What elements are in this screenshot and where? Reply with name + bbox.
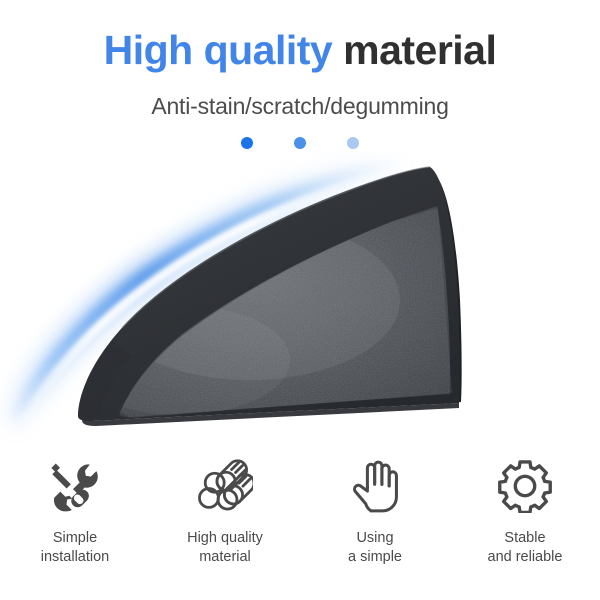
wrench-screwdriver-icon — [48, 455, 102, 517]
product-image-stage — [0, 150, 600, 450]
feature-item-using-a-simple: Using a simple — [306, 455, 444, 566]
feature-label-using-a-simple: Using a simple — [348, 529, 402, 566]
page-subtitle: Anti-stain/scratch/degumming — [0, 93, 600, 120]
headline-secondary: material — [343, 27, 496, 73]
dot-indicator-3 — [347, 137, 359, 149]
product-feature-banner: High quality material Anti-stain/scratch… — [0, 0, 600, 600]
gear-icon — [498, 455, 552, 517]
car-window-trim-wedge-illustration — [0, 150, 600, 450]
feature-item-simple-installation: Simple installation — [6, 455, 144, 566]
dot-indicator-1 — [241, 137, 253, 149]
stacked-logs-icon — [197, 455, 253, 517]
dot-indicator-2 — [294, 137, 306, 149]
feature-label-high-quality-material: High quality material — [187, 529, 263, 566]
feature-label-stable-and-reliable: Stable and reliable — [488, 529, 563, 566]
headline-primary: High quality — [104, 27, 333, 73]
feature-item-stable-and-reliable: Stable and reliable — [456, 455, 594, 566]
page-title: High quality material — [0, 30, 600, 71]
feature-label-simple-installation: Simple installation — [41, 529, 110, 566]
open-hand-icon — [350, 455, 400, 517]
feature-list: Simple installation — [0, 455, 600, 595]
dot-indicators — [0, 137, 600, 149]
feature-item-high-quality-material: High quality material — [156, 455, 294, 566]
